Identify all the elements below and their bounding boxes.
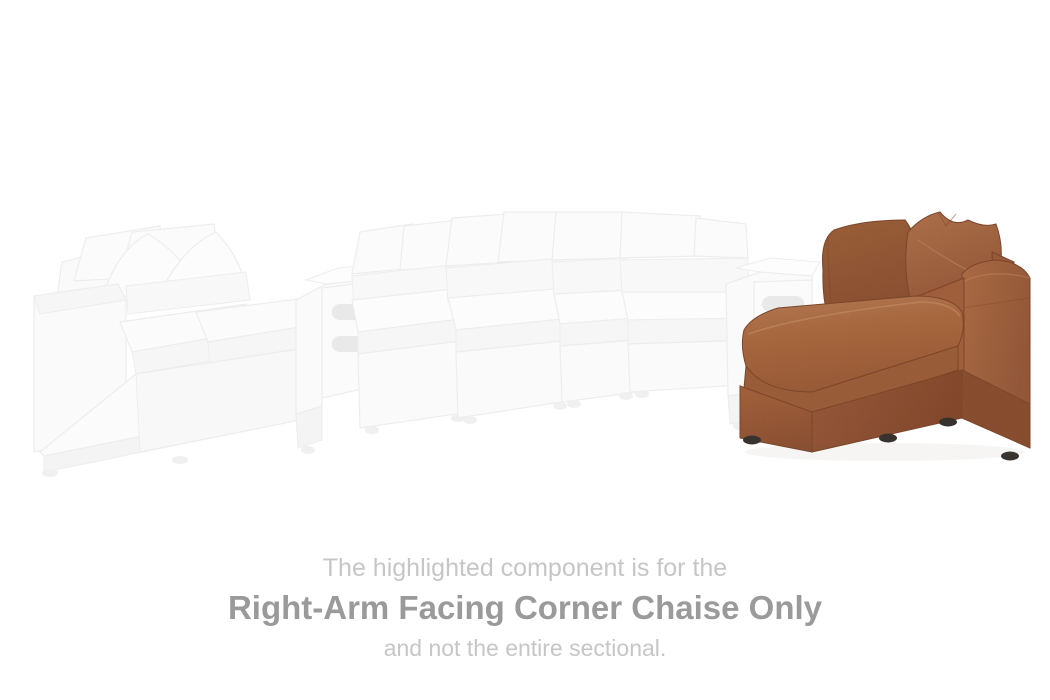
sofa-foot [463,416,477,424]
chaise-ground-shadow [745,443,1025,461]
sofa-foot [172,456,188,464]
chaise-foot [879,434,897,443]
caption-component-name: Right-Arm Facing Corner Chaise Only [0,587,1050,629]
sofa-foot [42,469,58,477]
caption-line-intro: The highlighted component is for the [0,552,1050,584]
caption-line-disclaimer: and not the entire sectional. [0,633,1050,663]
sofa-foot [553,402,567,410]
sofa-foot [567,400,581,408]
product-highlight-page: The highlighted component is for the Rig… [0,0,1050,700]
chaise-foot [939,418,957,427]
chaise-foot [743,436,761,445]
sofa-foot [619,392,633,400]
sofa-foot [365,426,379,434]
ghost-module-left-arm-facing-loveseat [34,224,320,477]
caption-block: The highlighted component is for the Rig… [0,552,1050,663]
sofa-foot [635,390,649,398]
ghost-sectional-group [34,212,820,477]
highlighted-module-right-arm-facing-corner-chaise [740,212,1030,461]
sofa-foot [301,446,315,454]
